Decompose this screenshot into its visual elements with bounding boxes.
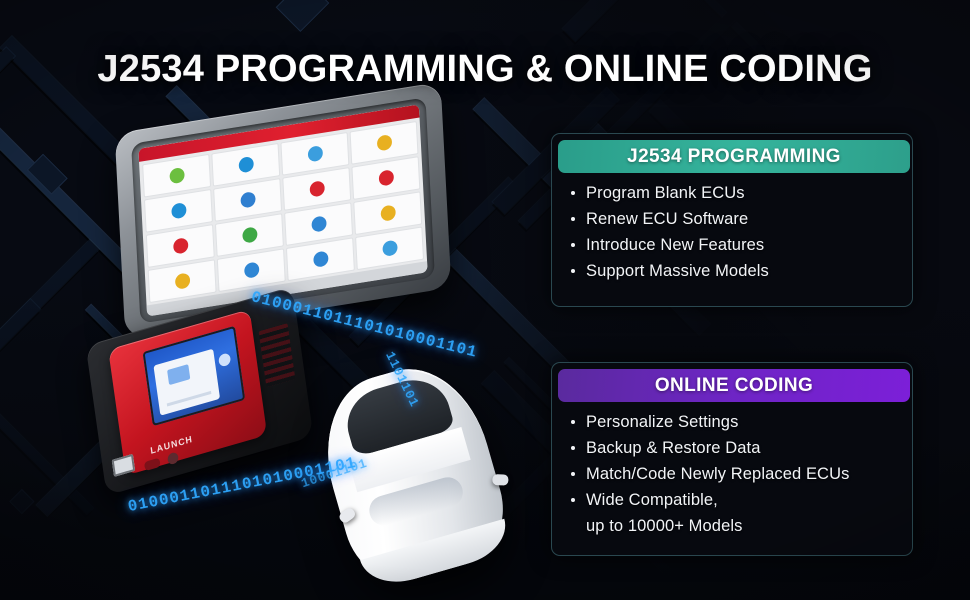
app-icon: [171, 202, 187, 219]
app-icon: [378, 169, 394, 186]
list-item: Wide Compatible, up to 10000+ Models: [570, 487, 898, 539]
list-item-line1: Wide Compatible,: [586, 491, 718, 509]
panel-online-coding: ONLINE CODING Personalize Settings Backu…: [551, 362, 913, 556]
app-icon: [169, 167, 185, 184]
panel-j2534-programming: J2534 PROGRAMMING Program Blank ECUs Ren…: [551, 133, 913, 307]
list-item: Program Blank ECUs: [570, 180, 898, 206]
promo-banner: LAUNCH 0100011011101010001101 0100011011…: [0, 0, 970, 600]
app-icon: [238, 156, 254, 173]
list-item: Match/Code Newly Replaced ECUs: [570, 461, 898, 487]
app-icon: [313, 251, 329, 268]
app-icon: [243, 261, 259, 278]
car-mirror-right: [492, 474, 508, 486]
feature-list-j2534-programming: Program Blank ECUs Renew ECU Software In…: [570, 180, 898, 284]
panel-header-j2534-programming: J2534 PROGRAMMING: [558, 140, 910, 173]
list-item: Renew ECU Software: [570, 206, 898, 232]
app-icon: [172, 237, 188, 254]
feature-list-online-coding: Personalize Settings Backup & Restore Da…: [570, 409, 898, 539]
app-icon: [376, 134, 392, 151]
list-item: Personalize Settings: [570, 409, 898, 435]
vci-screen-indicator: [218, 352, 231, 367]
panel-header-online-coding: ONLINE CODING: [558, 369, 910, 402]
list-item: Support Massive Models: [570, 258, 898, 284]
panel-body-j2534-programming: Program Blank ECUs Renew ECU Software In…: [552, 180, 912, 298]
list-item-line2: up to 10000+ Models: [586, 513, 898, 539]
app-icon: [174, 272, 190, 289]
app-icon: [242, 226, 258, 243]
panel-body-online-coding: Personalize Settings Backup & Restore Da…: [552, 409, 912, 547]
app-icon: [240, 191, 256, 208]
app-icon: [311, 215, 327, 232]
banner-title: J2534 PROGRAMMING & ONLINE CODING: [0, 48, 970, 91]
vci-screen-card: [153, 349, 220, 416]
list-item: Backup & Restore Data: [570, 435, 898, 461]
app-icon: [382, 240, 398, 257]
list-item: Introduce New Features: [570, 232, 898, 258]
app-icon: [309, 180, 325, 197]
app-icon: [380, 204, 396, 221]
app-icon: [307, 145, 323, 162]
